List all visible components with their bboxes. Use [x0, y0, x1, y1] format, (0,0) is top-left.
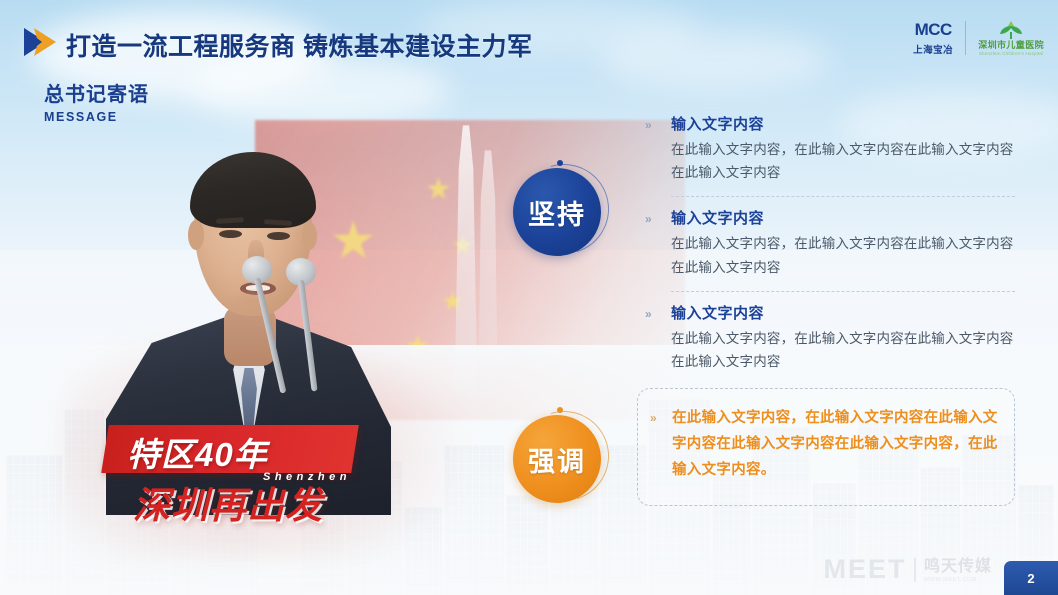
badge-dot — [557, 160, 563, 166]
watermark: MEET 鸣天传媒 WWW.MEET.COM — [823, 556, 992, 583]
badge-label: 强调 — [528, 440, 586, 479]
logo-divider — [965, 21, 966, 55]
mcc-company-name: 上海宝冶 — [913, 42, 953, 56]
chevron-right-icon: » — [645, 212, 651, 226]
logo-group: MCC 上海宝冶 深圳市儿童医院 Shenzhen Children's Hos… — [913, 12, 1044, 64]
highlight-callout-box[interactable]: » 在此输入文字内容，在此输入文字内容在此输入文字内容在此输入文字内容在此输入文… — [637, 388, 1015, 506]
list-separator — [671, 291, 1015, 292]
flag-star: ★ — [425, 175, 452, 205]
slide-root: ★ ★ ★ ★ ★ 打造一流工程服务商 — [0, 0, 1058, 595]
badge-label: 坚持 — [528, 193, 586, 232]
chevron-right-icon: » — [645, 307, 651, 321]
watermark-en: MEET — [823, 556, 906, 583]
badge-circle: 坚持 — [513, 168, 601, 256]
content-list: » 输入文字内容 在此输入文字内容，在此输入文字内容在此输入文字内容在此输入文字… — [645, 114, 1015, 385]
list-item[interactable]: » 输入文字内容 在此输入文字内容，在此输入文字内容在此输入文字内容在此输入文字… — [645, 303, 1015, 373]
badge-emphasis[interactable]: 强调 — [513, 407, 609, 503]
banner-line2: 深圳再出发 — [133, 475, 323, 529]
list-item-title: 输入文字内容 — [671, 208, 1015, 229]
badge-keep[interactable]: 坚持 — [513, 160, 609, 256]
play-arrow-icon — [22, 26, 56, 58]
list-item[interactable]: » 输入文字内容 在此输入文字内容，在此输入文字内容在此输入文字内容在此输入文字… — [645, 208, 1015, 278]
list-item-body: 在此输入文字内容，在此输入文字内容在此输入文字内容在此输入文字内容 — [671, 138, 1015, 184]
list-item[interactable]: » 输入文字内容 在此输入文字内容，在此输入文字内容在此输入文字内容在此输入文字… — [645, 114, 1015, 184]
partner-logo: 深圳市儿童医院 Shenzhen Children's Hospital — [978, 20, 1044, 56]
microphone-icon — [286, 258, 316, 286]
page-title: 打造一流工程服务商 铸炼基本建设主力军 — [66, 27, 532, 63]
mcc-logo: MCC 上海宝冶 — [913, 21, 953, 56]
badge-circle: 强调 — [513, 415, 601, 503]
chevron-right-icon: » — [650, 411, 656, 425]
microphone-icon — [242, 256, 272, 284]
badge-dot — [557, 407, 563, 413]
leaf-bird-icon — [998, 20, 1024, 40]
watermark-divider — [914, 558, 916, 582]
list-separator — [671, 196, 1015, 197]
slide-header: 打造一流工程服务商 铸炼基本建设主力军 MCC 上海宝冶 深圳市儿童医院 She… — [0, 0, 1058, 74]
chevron-right-icon: » — [645, 118, 651, 132]
list-item-title: 输入文字内容 — [671, 303, 1015, 324]
list-item-body: 在此输入文字内容，在此输入文字内容在此输入文字内容在此输入文字内容 — [671, 232, 1015, 278]
watermark-cn: 鸣天传媒 — [924, 558, 992, 576]
list-item-body: 在此输入文字内容，在此输入文字内容在此输入文字内容在此输入文字内容 — [671, 327, 1015, 373]
anniversary-banner: 特区40年 Shenzhen 深圳再出发 — [105, 425, 415, 540]
mcc-mark-text: MCC — [915, 21, 952, 38]
partner-name-en: Shenzhen Children's Hospital — [979, 51, 1044, 56]
watermark-url: WWW.MEET.COM — [924, 577, 992, 583]
banner-line1: 特区40年 — [127, 428, 268, 476]
highlight-text: 在此输入文字内容，在此输入文字内容在此输入文字内容在此输入文字内容在此输入文字内… — [672, 406, 998, 483]
list-item-title: 输入文字内容 — [671, 114, 1015, 135]
partner-name-cn: 深圳市儿童医院 — [978, 40, 1044, 50]
section-title-cn: 总书记寄语 — [44, 84, 149, 107]
page-number-badge: 2 — [1004, 561, 1058, 595]
